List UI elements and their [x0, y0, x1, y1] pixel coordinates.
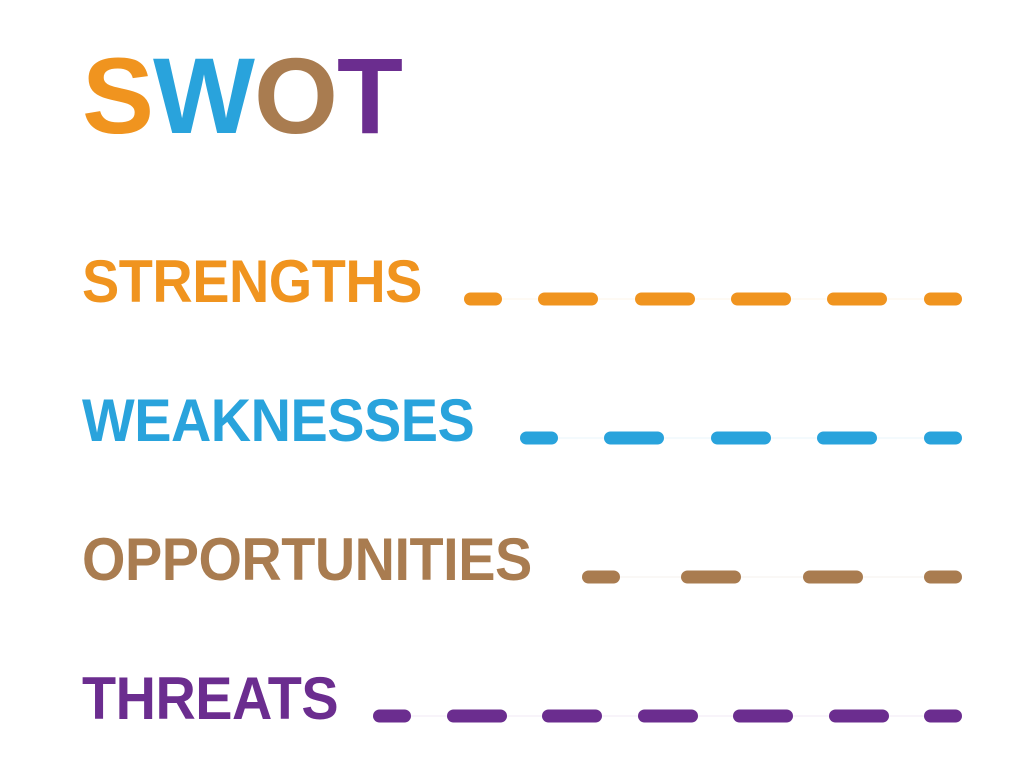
dash-segment [803, 571, 863, 584]
swot-row-opportunities: OPPORTUNITIES [82, 524, 962, 596]
dash-segment [538, 293, 598, 306]
dash-segment [733, 710, 793, 723]
dashed-rule-strengths [464, 286, 962, 312]
dash-group [373, 710, 962, 723]
swot-row-weaknesses: WEAKNESSES [82, 385, 962, 457]
dash-segment [711, 432, 771, 445]
dash-segment [827, 293, 887, 306]
title-letter-o: O [254, 42, 337, 150]
dash-segment [924, 710, 962, 723]
page-title: SWOT [82, 42, 402, 150]
dash-segment [464, 293, 502, 306]
dash-segment [542, 710, 602, 723]
title-letter-s: S [82, 42, 153, 150]
dash-segment [924, 571, 962, 584]
dash-segment [373, 710, 411, 723]
swot-slide: SWOT STRENGTHS WEAKNESSES OPPORTUNITIES … [0, 0, 1024, 768]
dash-segment [582, 571, 620, 584]
dash-segment [817, 432, 877, 445]
swot-label-threats: THREATS [82, 669, 338, 729]
swot-label-weaknesses: WEAKNESSES [82, 391, 474, 451]
dashed-rule-weaknesses [520, 425, 962, 451]
swot-row-threats: THREATS [82, 663, 962, 735]
dash-segment [681, 571, 741, 584]
title-letter-w: W [153, 42, 254, 150]
dashed-rule-threats [373, 703, 962, 729]
dash-segment [829, 710, 889, 723]
dash-segment [635, 293, 695, 306]
title-letter-t: T [337, 42, 402, 150]
dash-segment [604, 432, 664, 445]
dash-group [464, 293, 962, 306]
dash-segment [924, 432, 962, 445]
dash-group [582, 571, 962, 584]
dash-segment [520, 432, 558, 445]
swot-row-strengths: STRENGTHS [82, 246, 962, 318]
dash-segment [638, 710, 698, 723]
swot-label-opportunities: OPPORTUNITIES [82, 530, 532, 590]
swot-label-strengths: STRENGTHS [82, 252, 422, 312]
dash-segment [731, 293, 791, 306]
dash-group [520, 432, 962, 445]
dash-segment [447, 710, 507, 723]
dash-segment [924, 293, 962, 306]
dashed-rule-opportunities [582, 564, 962, 590]
